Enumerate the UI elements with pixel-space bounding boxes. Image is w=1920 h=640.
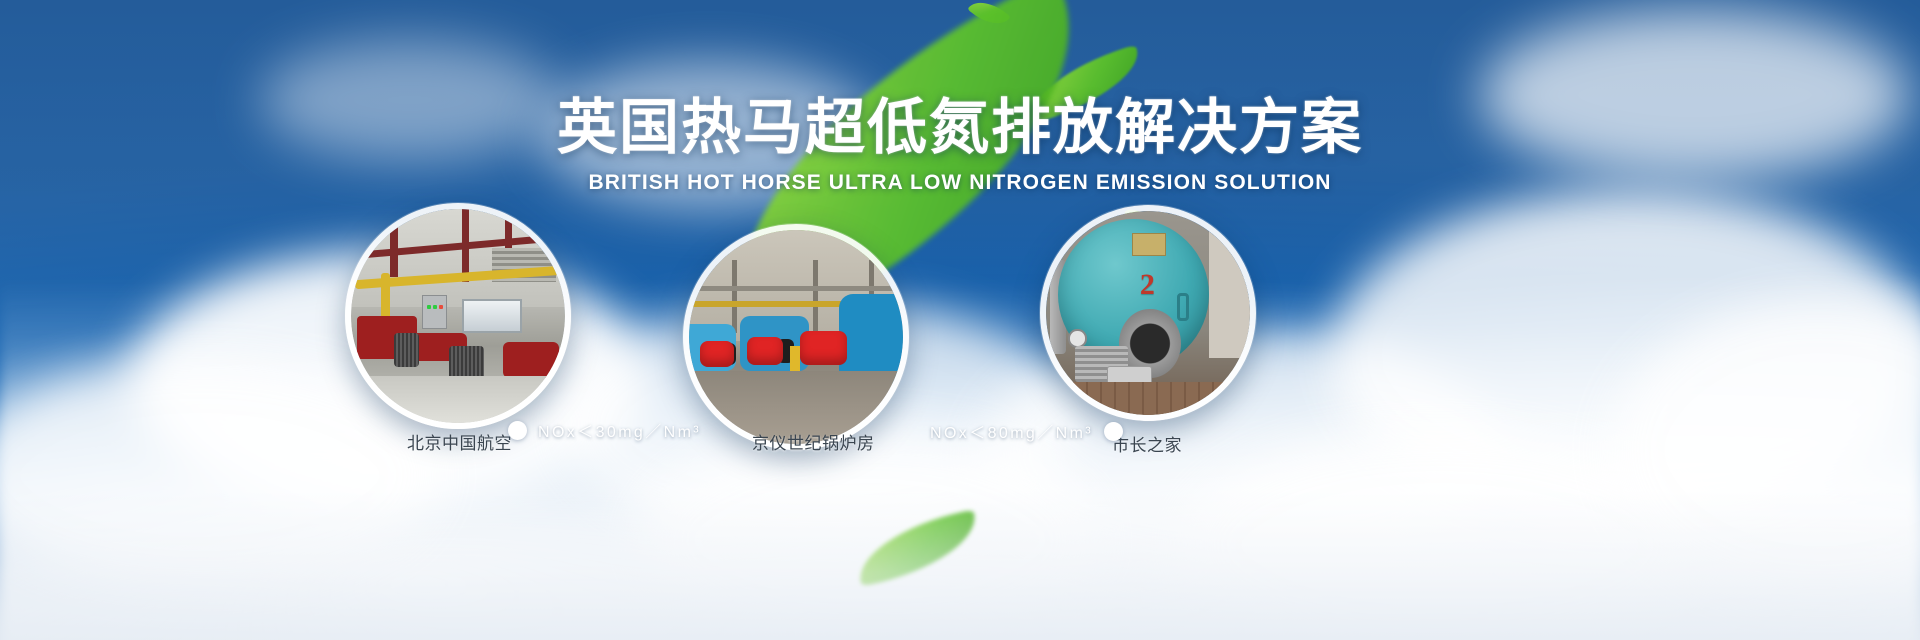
- banner-title-cn: 英国热马超低氮排放解决方案: [0, 96, 1920, 161]
- boiler-number-label: 2: [1140, 268, 1155, 302]
- emission-badge-1: NOx＜30mg／Nm³: [508, 418, 701, 442]
- case-photo-1-image: [351, 209, 565, 423]
- case-photo-3-image: 2: [1046, 211, 1250, 415]
- emission-badge-1-text: NOx＜30mg／Nm³: [538, 418, 701, 442]
- bullet-dot-icon: [1104, 422, 1123, 441]
- bullet-dot-icon: [508, 421, 527, 440]
- hero-banner: 英国热马超低氮排放解决方案 BRITISH HOT HORSE ULTRA LO…: [0, 0, 1920, 640]
- case-photo-3[interactable]: 2: [1040, 205, 1256, 421]
- banner-title-en: BRITISH HOT HORSE ULTRA LOW NITROGEN EMI…: [0, 171, 1920, 195]
- case-caption-2: 京仪世纪锅炉房: [752, 429, 875, 454]
- emission-badge-3-text: NOx＜80mg／Nm³: [930, 419, 1093, 443]
- case-photo-1[interactable]: [345, 203, 571, 429]
- emission-badge-3: NOx＜80mg／Nm³: [930, 419, 1123, 443]
- case-photo-2-image: [689, 230, 903, 444]
- cloud-puff: [640, 430, 1100, 640]
- case-photo-2[interactable]: [683, 224, 909, 450]
- banner-headings: 英国热马超低氮排放解决方案 BRITISH HOT HORSE ULTRA LO…: [0, 96, 1920, 195]
- case-caption-1: 北京中国航空: [407, 429, 512, 454]
